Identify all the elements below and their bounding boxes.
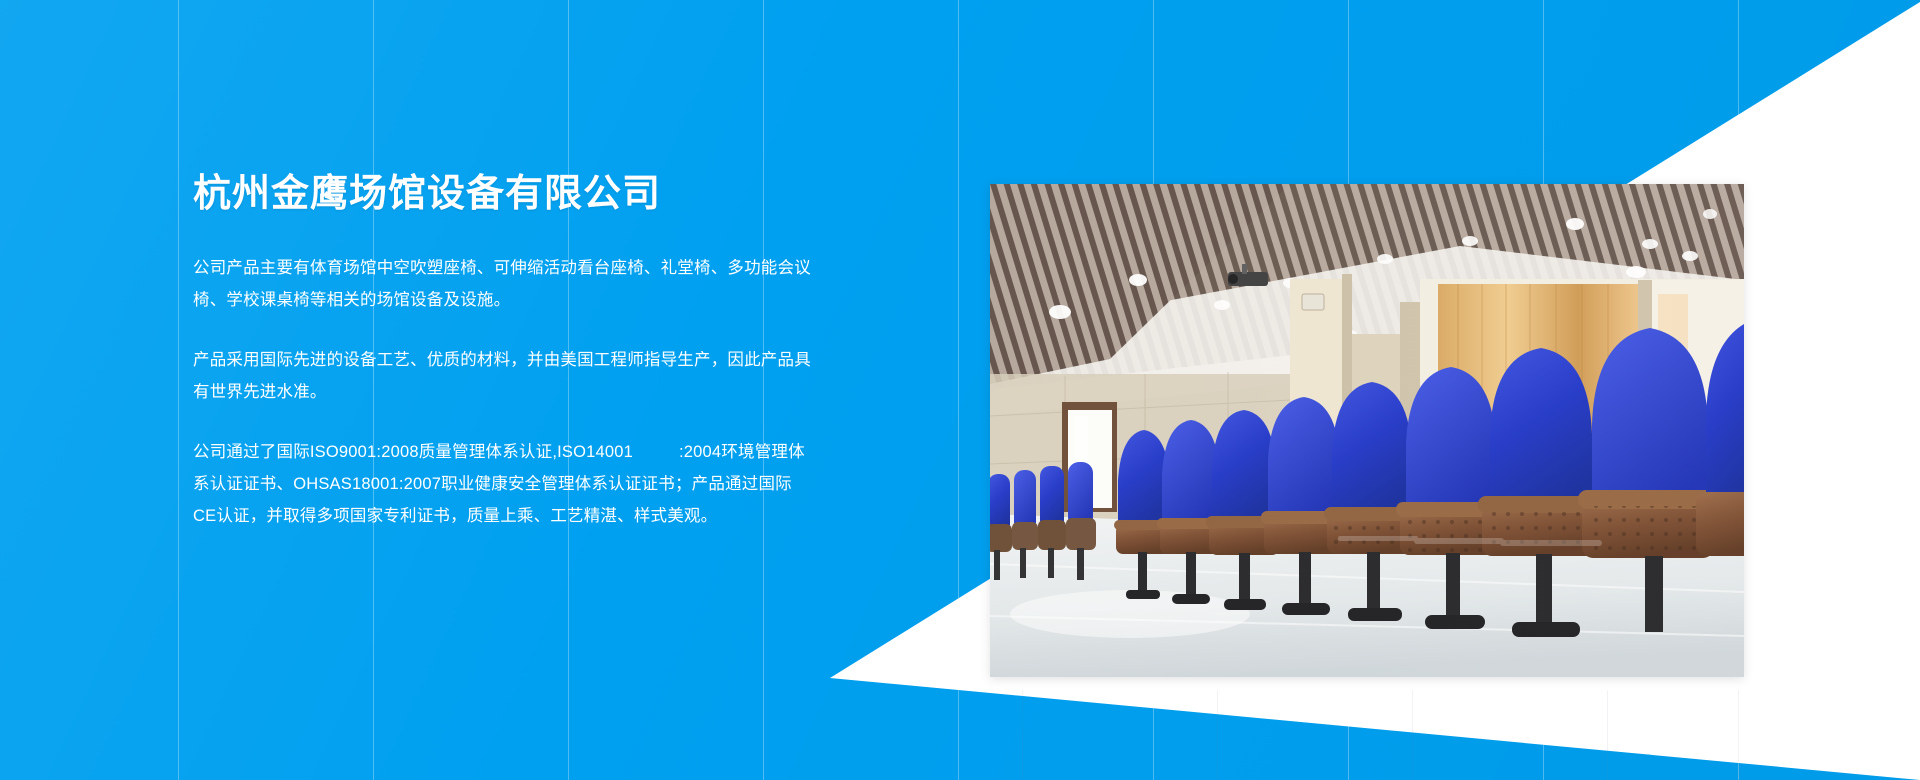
certification-text-part1: 公司通过了国际ISO9001:2008质量管理体系认证,ISO14001 [193, 443, 633, 461]
hero-banner: 杭州金鹰场馆设备有限公司 公司产品主要有体育场馆中空吹塑座椅、可伸缩活动看台座椅… [0, 0, 1920, 780]
auditorium-illustration [990, 184, 1744, 677]
company-title: 杭州金鹰场馆设备有限公司 [193, 172, 813, 218]
intro-paragraph-quality: 产品采用国际先进的设备工艺、优质的材料，并由美国工程师指导生产，因此产品具有世界… [193, 344, 813, 408]
auditorium-seating-photo [990, 184, 1744, 677]
intro-paragraph-certifications: 公司通过了国际ISO9001:2008质量管理体系认证,ISO14001:200… [193, 436, 813, 532]
hero-copy: 杭州金鹰场馆设备有限公司 公司产品主要有体育场馆中空吹塑座椅、可伸缩活动看台座椅… [193, 172, 813, 532]
intro-paragraph-products: 公司产品主要有体育场馆中空吹塑座椅、可伸缩活动看台座椅、礼堂椅、多功能会议椅、学… [193, 252, 813, 316]
